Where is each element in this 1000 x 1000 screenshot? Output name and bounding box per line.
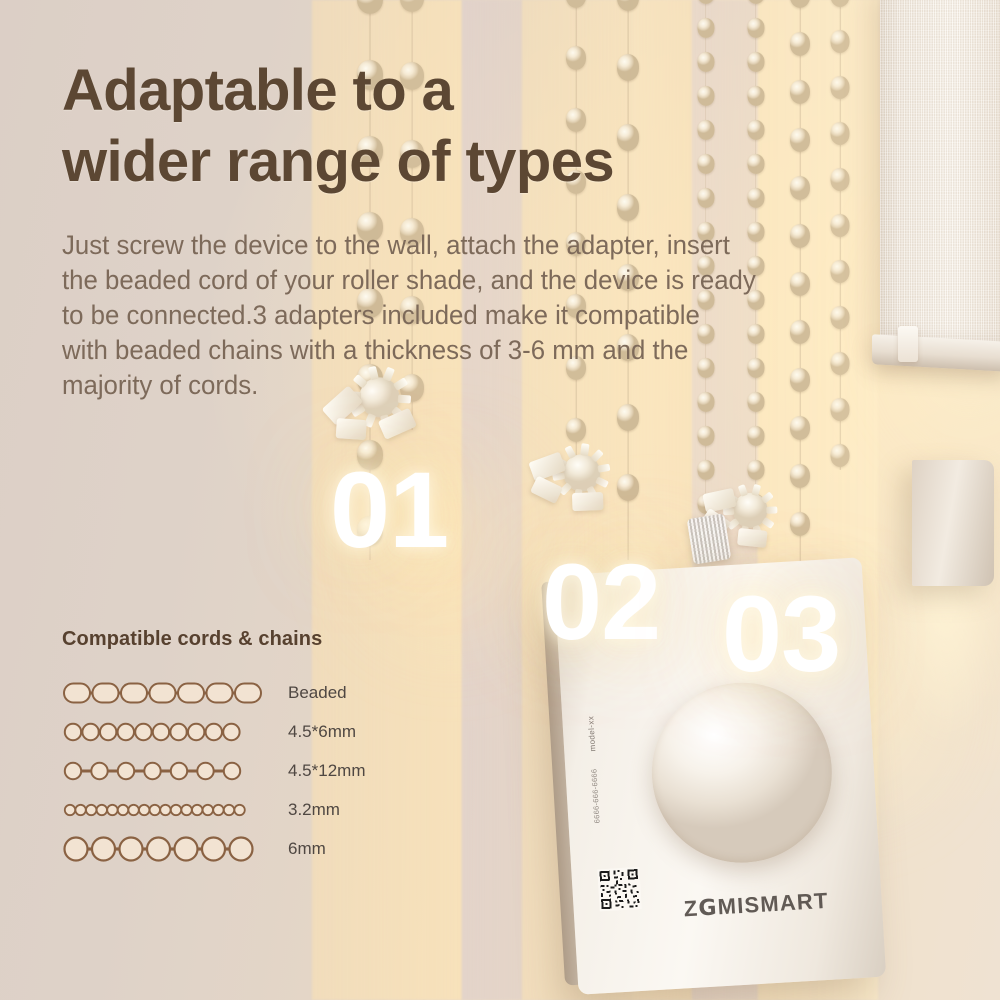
body-line-3: to be connected.3 adapters included make… (62, 298, 885, 333)
chain-bead (617, 54, 639, 81)
cord-label: 4.5*6mm (272, 722, 356, 742)
step-number-02: 02 (542, 548, 660, 656)
adapter-tooth (595, 477, 609, 489)
chain-bead (698, 154, 715, 174)
chain-bead (790, 416, 810, 440)
body-line-4: with beaded chains with a thickness of 3… (62, 333, 885, 368)
device-label-model: model-xx (586, 716, 597, 752)
cord-label: 6mm (272, 839, 326, 859)
chain-bead (790, 0, 810, 8)
chain-bead (748, 52, 765, 72)
metal-sleeve-icon (687, 513, 732, 564)
device-label-serial: 6666-666-6666 (589, 768, 601, 823)
cord-row: Beaded (62, 673, 462, 712)
chain-bead (790, 80, 810, 104)
chain-bead (748, 120, 765, 140)
step-number-03: 03 (722, 580, 840, 688)
chain-bead (831, 444, 850, 467)
chain-bead (698, 426, 715, 446)
adapter-tooth (766, 506, 777, 513)
wall-sconce (912, 460, 994, 586)
chain-bead (698, 86, 715, 106)
cords-section-title: Compatible cords & chains (62, 628, 462, 651)
chain-bead (698, 18, 715, 38)
chain-bead (831, 168, 850, 191)
chain-bead (698, 120, 715, 140)
brand-text-mark: G (698, 895, 719, 921)
chain-bead (617, 404, 639, 431)
cord-adapter-2 (522, 423, 634, 525)
chain-bead (357, 0, 383, 14)
product-scene: model-xx 6666-666-6666 (0, 0, 1000, 1000)
headline-line-1: Adaptable to a (62, 56, 614, 127)
chain-diagram-spaced-long-icon (62, 754, 272, 788)
chain-bead (698, 52, 715, 72)
chain-bead (748, 188, 765, 208)
chain-bead (831, 30, 850, 53)
adapter-wing (572, 492, 604, 511)
chain-bead (831, 76, 850, 99)
chain-diagram-dense-medium-icon (62, 715, 272, 749)
brand-logo: ZGMISMART (683, 888, 829, 923)
body-line-2: the beaded cord of your roller shade, an… (62, 263, 885, 298)
adapter-wing (336, 418, 367, 440)
adapter-tooth (580, 444, 589, 457)
chain-diagram-large-short-icon (62, 832, 272, 866)
page-headline: Adaptable to a wider range of types (62, 56, 614, 198)
chain-bead (617, 0, 639, 11)
chain-bead (566, 0, 586, 8)
brand-text-suffix: MISMART (717, 888, 829, 920)
body-line-5: majority of cords. (62, 368, 885, 403)
chain-bead (831, 0, 850, 7)
adapter-tooth (761, 491, 774, 503)
adapter-wing (737, 528, 768, 548)
body-line-1: Just screw the device to the wall, attac… (62, 228, 885, 263)
adapter-tooth (598, 464, 611, 473)
qr-code-icon (597, 867, 641, 911)
chain-bead (790, 128, 810, 152)
chain-bead (748, 86, 765, 106)
cord-row: 6mm (62, 829, 462, 868)
chain-bead (748, 154, 765, 174)
chain-bead (748, 18, 765, 38)
compatible-cords-section: Compatible cords & chains Beaded4.5*6mm4… (62, 628, 462, 868)
roller-shade-pull-tab (898, 326, 918, 362)
chain-diagram-beaded-oval-icon (62, 676, 272, 710)
headline-line-2: wider range of types (62, 127, 614, 198)
chain-bead (698, 188, 715, 208)
chain-bead (831, 122, 850, 145)
device-knob (647, 678, 837, 868)
adapter-tooth (762, 516, 775, 528)
roller-shade (880, 0, 1000, 356)
cord-row: 4.5*12mm (62, 751, 462, 790)
cord-label: Beaded (272, 683, 347, 703)
cords-list: Beaded4.5*6mm4.5*12mm3.2mm6mm (62, 673, 462, 868)
adapter-tooth (751, 483, 761, 496)
cord-label: 4.5*12mm (272, 761, 365, 781)
chain-bead (748, 426, 765, 446)
cord-row: 3.2mm (62, 790, 462, 829)
cord-row: 4.5*6mm (62, 712, 462, 751)
body-paragraph: Just screw the device to the wall, attac… (62, 228, 885, 403)
chain-bead (400, 0, 424, 12)
chain-bead (748, 0, 765, 4)
chain-bead (698, 0, 715, 4)
brand-text-prefix: Z (683, 896, 699, 922)
adapter-tooth (738, 484, 748, 497)
chain-bead (617, 194, 639, 221)
step-number-01: 01 (330, 456, 448, 564)
cord-label: 3.2mm (272, 800, 340, 820)
chain-bead (790, 32, 810, 56)
chain-bead (617, 124, 639, 151)
chain-bead (790, 176, 810, 200)
chain-diagram-tiny-dense-icon (62, 793, 272, 827)
